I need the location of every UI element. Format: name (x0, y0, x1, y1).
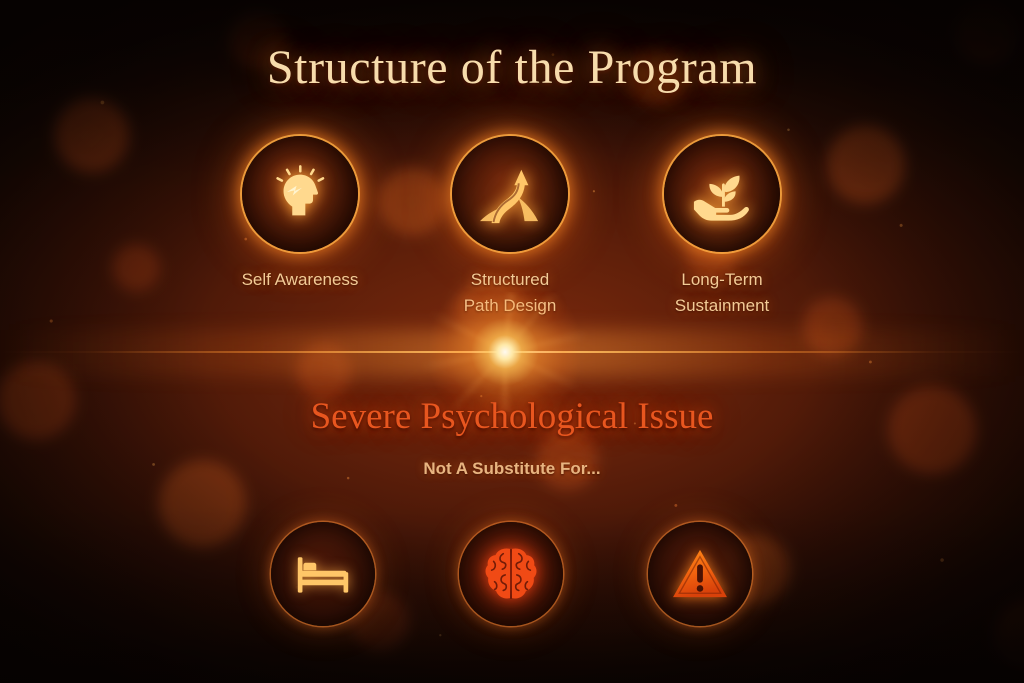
section-headline: Severe Psychological Issue (0, 395, 1024, 438)
pillar-label-self-awareness: Self Awareness (185, 267, 415, 293)
slide-content: Structure of the Program (0, 0, 1024, 683)
winding-path-arrow-icon (478, 163, 542, 225)
pillar-label-long-term: Long-Term Sustainment (607, 267, 837, 319)
bed-icon (295, 552, 351, 596)
section-subheadline: Not A Substitute For... (0, 459, 1024, 479)
exclusion-circle-warning[interactable] (648, 522, 752, 626)
exclusion-circle-brain[interactable] (459, 522, 563, 626)
hand-sprout-icon (690, 164, 754, 224)
warning-triangle-icon (671, 548, 729, 600)
pillar-circle-structured-path[interactable] (452, 136, 568, 252)
section-divider (0, 352, 1024, 353)
page-title: Structure of the Program (0, 40, 1024, 95)
brain-icon (482, 545, 540, 603)
head-lightbulb-icon (269, 163, 331, 225)
exclusion-circle-bed[interactable] (271, 522, 375, 626)
slide-canvas: Structure of the Program (0, 0, 1024, 683)
pillar-circle-long-term[interactable] (664, 136, 780, 252)
pillar-circle-self-awareness[interactable] (242, 136, 358, 252)
